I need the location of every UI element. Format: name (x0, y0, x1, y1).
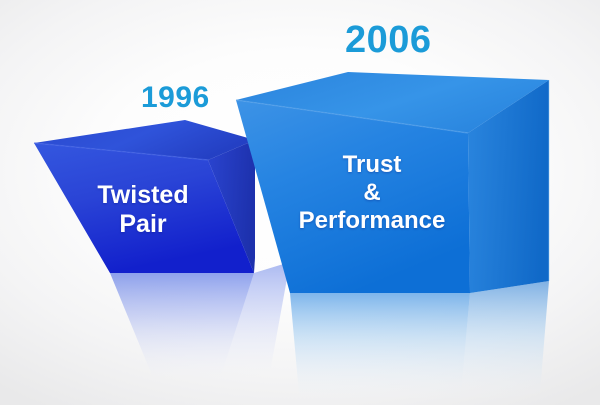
block-label-trust-performance: Trust & Performance (272, 151, 472, 234)
block-label-twisted-pair: Twisted Pair (68, 181, 218, 239)
year-label-1996: 1996 (141, 83, 210, 113)
year-label-2006: 2006 (345, 21, 432, 59)
right-box-side-reflection (460, 281, 549, 405)
infographic-canvas: 1996 2006 Twisted Pair Trust & Performan… (0, 0, 600, 405)
right-box-reflection (290, 293, 470, 405)
